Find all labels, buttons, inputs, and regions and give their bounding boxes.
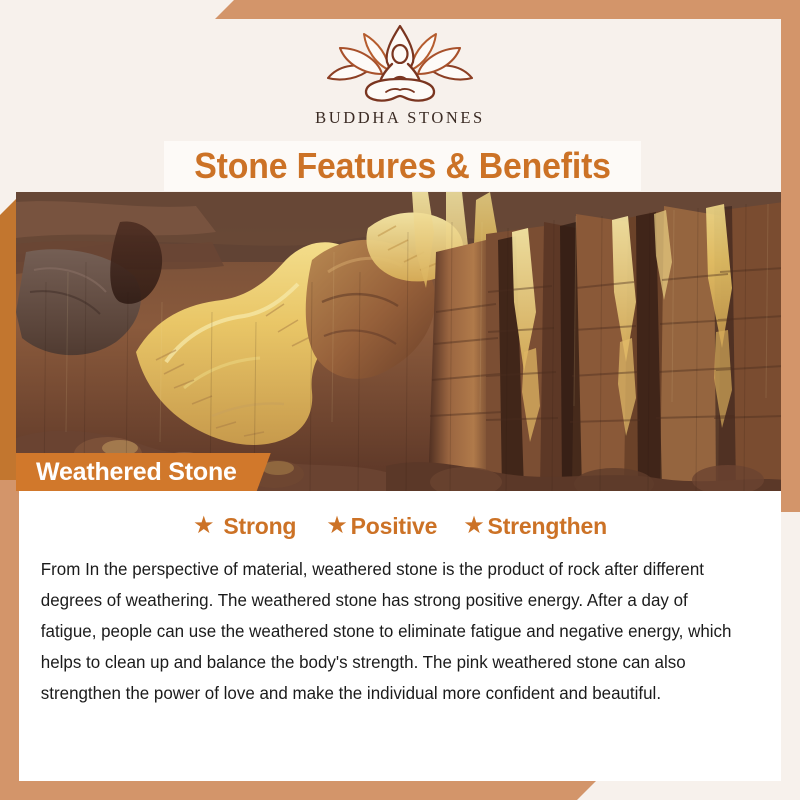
feature-item-strengthen: ★ Strengthen [463,513,607,540]
feature-list: ★ Strong ★ Positive ★ Strengthen [33,513,767,540]
page-title: Stone Features & Benefits [194,145,611,187]
decor-band-bottom [0,781,596,800]
feature-label: Positive [351,513,438,540]
feature-label: Strong [223,513,296,540]
photo-label: Weathered Stone [16,453,271,491]
brand-logo: BUDDHA STONES [295,22,505,128]
decor-band-left-lower [0,480,19,800]
stone-photo [16,192,784,491]
body-description: From In the perspective of material, wea… [33,554,749,709]
poster: BUDDHA STONES Stone Features & Benefits [0,0,800,800]
lotus-meditation-icon [320,22,480,104]
footer-whitespace [19,732,781,781]
rock-formation-illustration [16,192,784,491]
title-plate: Stone Features & Benefits [164,141,641,191]
brand-wordmark: BUDDHA STONES [295,108,505,128]
star-icon: ★ [463,514,484,538]
decor-band-right [781,0,800,512]
feature-label: Strengthen [488,513,607,540]
decor-band-top [215,0,800,19]
star-icon: ★ [193,514,214,538]
feature-item-strong: ★ Strong [193,513,296,540]
content-card: ★ Strong ★ Positive ★ Strengthen From In… [19,491,781,732]
feature-item-positive: ★ Positive [326,513,437,540]
star-icon: ★ [326,514,347,538]
